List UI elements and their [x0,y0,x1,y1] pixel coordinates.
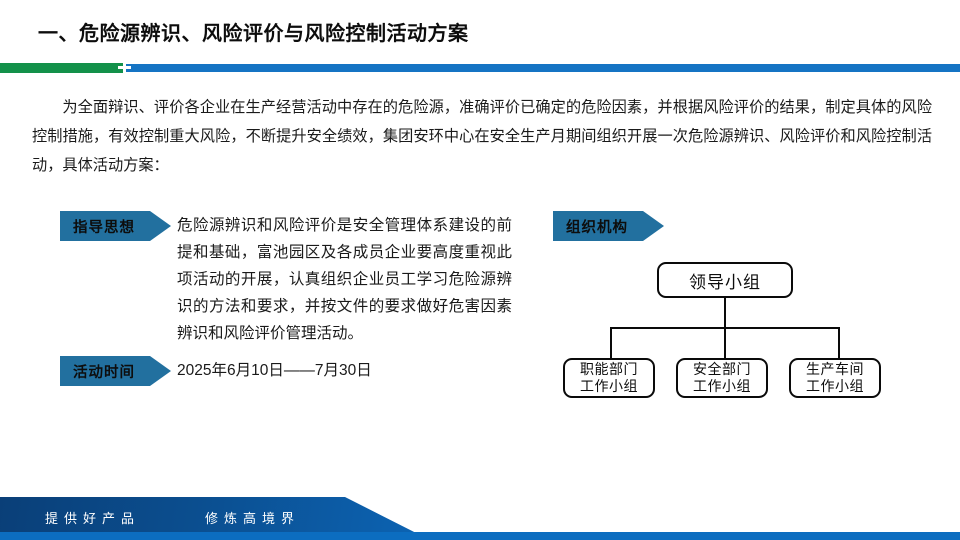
org-node-root-label: 领导小组 [689,268,761,293]
org-node-functional-dept-line2: 工作小组 [580,378,638,395]
org-connector-drop-1 [610,327,612,358]
org-connector-drop-3 [838,327,840,358]
guiding-ideology-body: 危险源辨识和风险评价是安全管理体系建设的前提和基础，富池园区及各成员企业要高度重… [177,212,512,347]
title-rule-green [0,63,124,73]
org-node-production-workshop-line1: 生产车间 [806,361,864,378]
org-node-safety-dept-line1: 安全部门 [693,361,751,378]
tag-guiding-ideology: 指导思想 [60,211,171,241]
org-node-production-workshop: 生产车间 工作小组 [789,358,881,398]
page-title: 一、危险源辨识、风险评价与风险控制活动方案 [38,17,469,46]
org-node-root: 领导小组 [657,262,793,298]
footer-slogan-right: 修炼高境界 [205,508,300,527]
activity-time-value: 2025年6月10日——7月30日 [177,358,507,384]
tag-organization: 组织机构 [553,211,664,241]
tag-organization-label: 组织机构 [566,216,628,237]
org-node-safety-dept-line2: 工作小组 [693,378,751,395]
footer-slogan-left: 提供好产品 [45,508,140,527]
org-connector-stem [724,298,726,328]
tag-guiding-ideology-label: 指导思想 [73,216,135,237]
title-rule-blue [0,64,960,72]
org-node-safety-dept: 安全部门 工作小组 [676,358,768,398]
slide-root: 一、危险源辨识、风险评价与风险控制活动方案 为全面辩识、评价各企业在生产经营活动… [0,0,960,540]
tag-activity-time-label: 活动时间 [73,361,135,382]
org-chart: 领导小组 职能部门 工作小组 安全部门 工作小组 生产车间 工作小组 [548,262,938,412]
org-node-functional-dept-line1: 职能部门 [580,361,638,378]
tag-activity-time: 活动时间 [60,356,171,386]
plus-marker-icon [118,60,131,75]
intro-paragraph: 为全面辩识、评价各企业在生产经营活动中存在的危险源，准确评价已确定的危险因素，并… [32,93,932,180]
org-node-production-workshop-line2: 工作小组 [806,378,864,395]
footer-baseline [0,532,960,540]
org-connector-drop-2 [724,327,726,358]
org-node-functional-dept: 职能部门 工作小组 [563,358,655,398]
